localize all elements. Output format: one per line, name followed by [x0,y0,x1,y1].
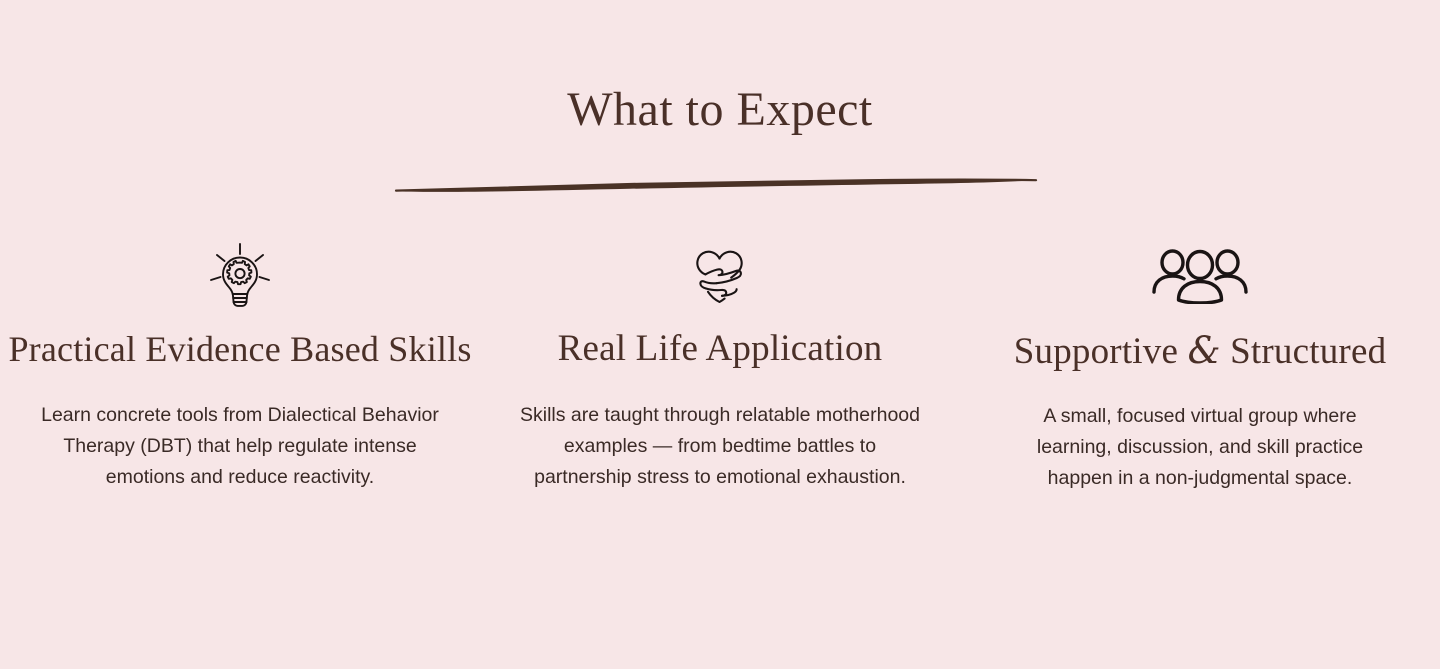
lightbulb-gear-icon [208,240,272,312]
feature-column-supportive-and-structured: Supportive & Structured A small, focused… [960,240,1440,494]
feature-description: A small, focused virtual group where lea… [1014,401,1386,494]
feature-title: Real Life Application [558,326,883,372]
group-of-people-icon [1151,240,1249,312]
feature-description: Learn concrete tools from Dialectical Be… [41,400,439,493]
feature-title-prefix: Supportive [1014,331,1188,372]
ampersand-glyph: & [1188,329,1221,372]
feature-description: Skills are taught through relatable moth… [517,400,923,493]
what-to-expect-section: What to Expect [0,0,1440,669]
section-header: What to Expect [0,82,1440,138]
feature-columns: Practical Evidence Based Skills Learn co… [0,240,1440,494]
section-title: What to Expect [0,82,1440,138]
brush-stroke-divider [390,168,1050,204]
feature-title: Supportive & Structured [1014,328,1387,375]
hands-holding-heart-icon [686,240,754,312]
feature-column-practical-evidence-based-skills: Practical Evidence Based Skills Learn co… [0,240,480,493]
feature-title: Practical Evidence Based Skills [8,326,471,372]
feature-title-suffix: Structured [1221,331,1387,372]
feature-column-real-life-application: Real Life Application Skills are taught … [480,240,960,493]
